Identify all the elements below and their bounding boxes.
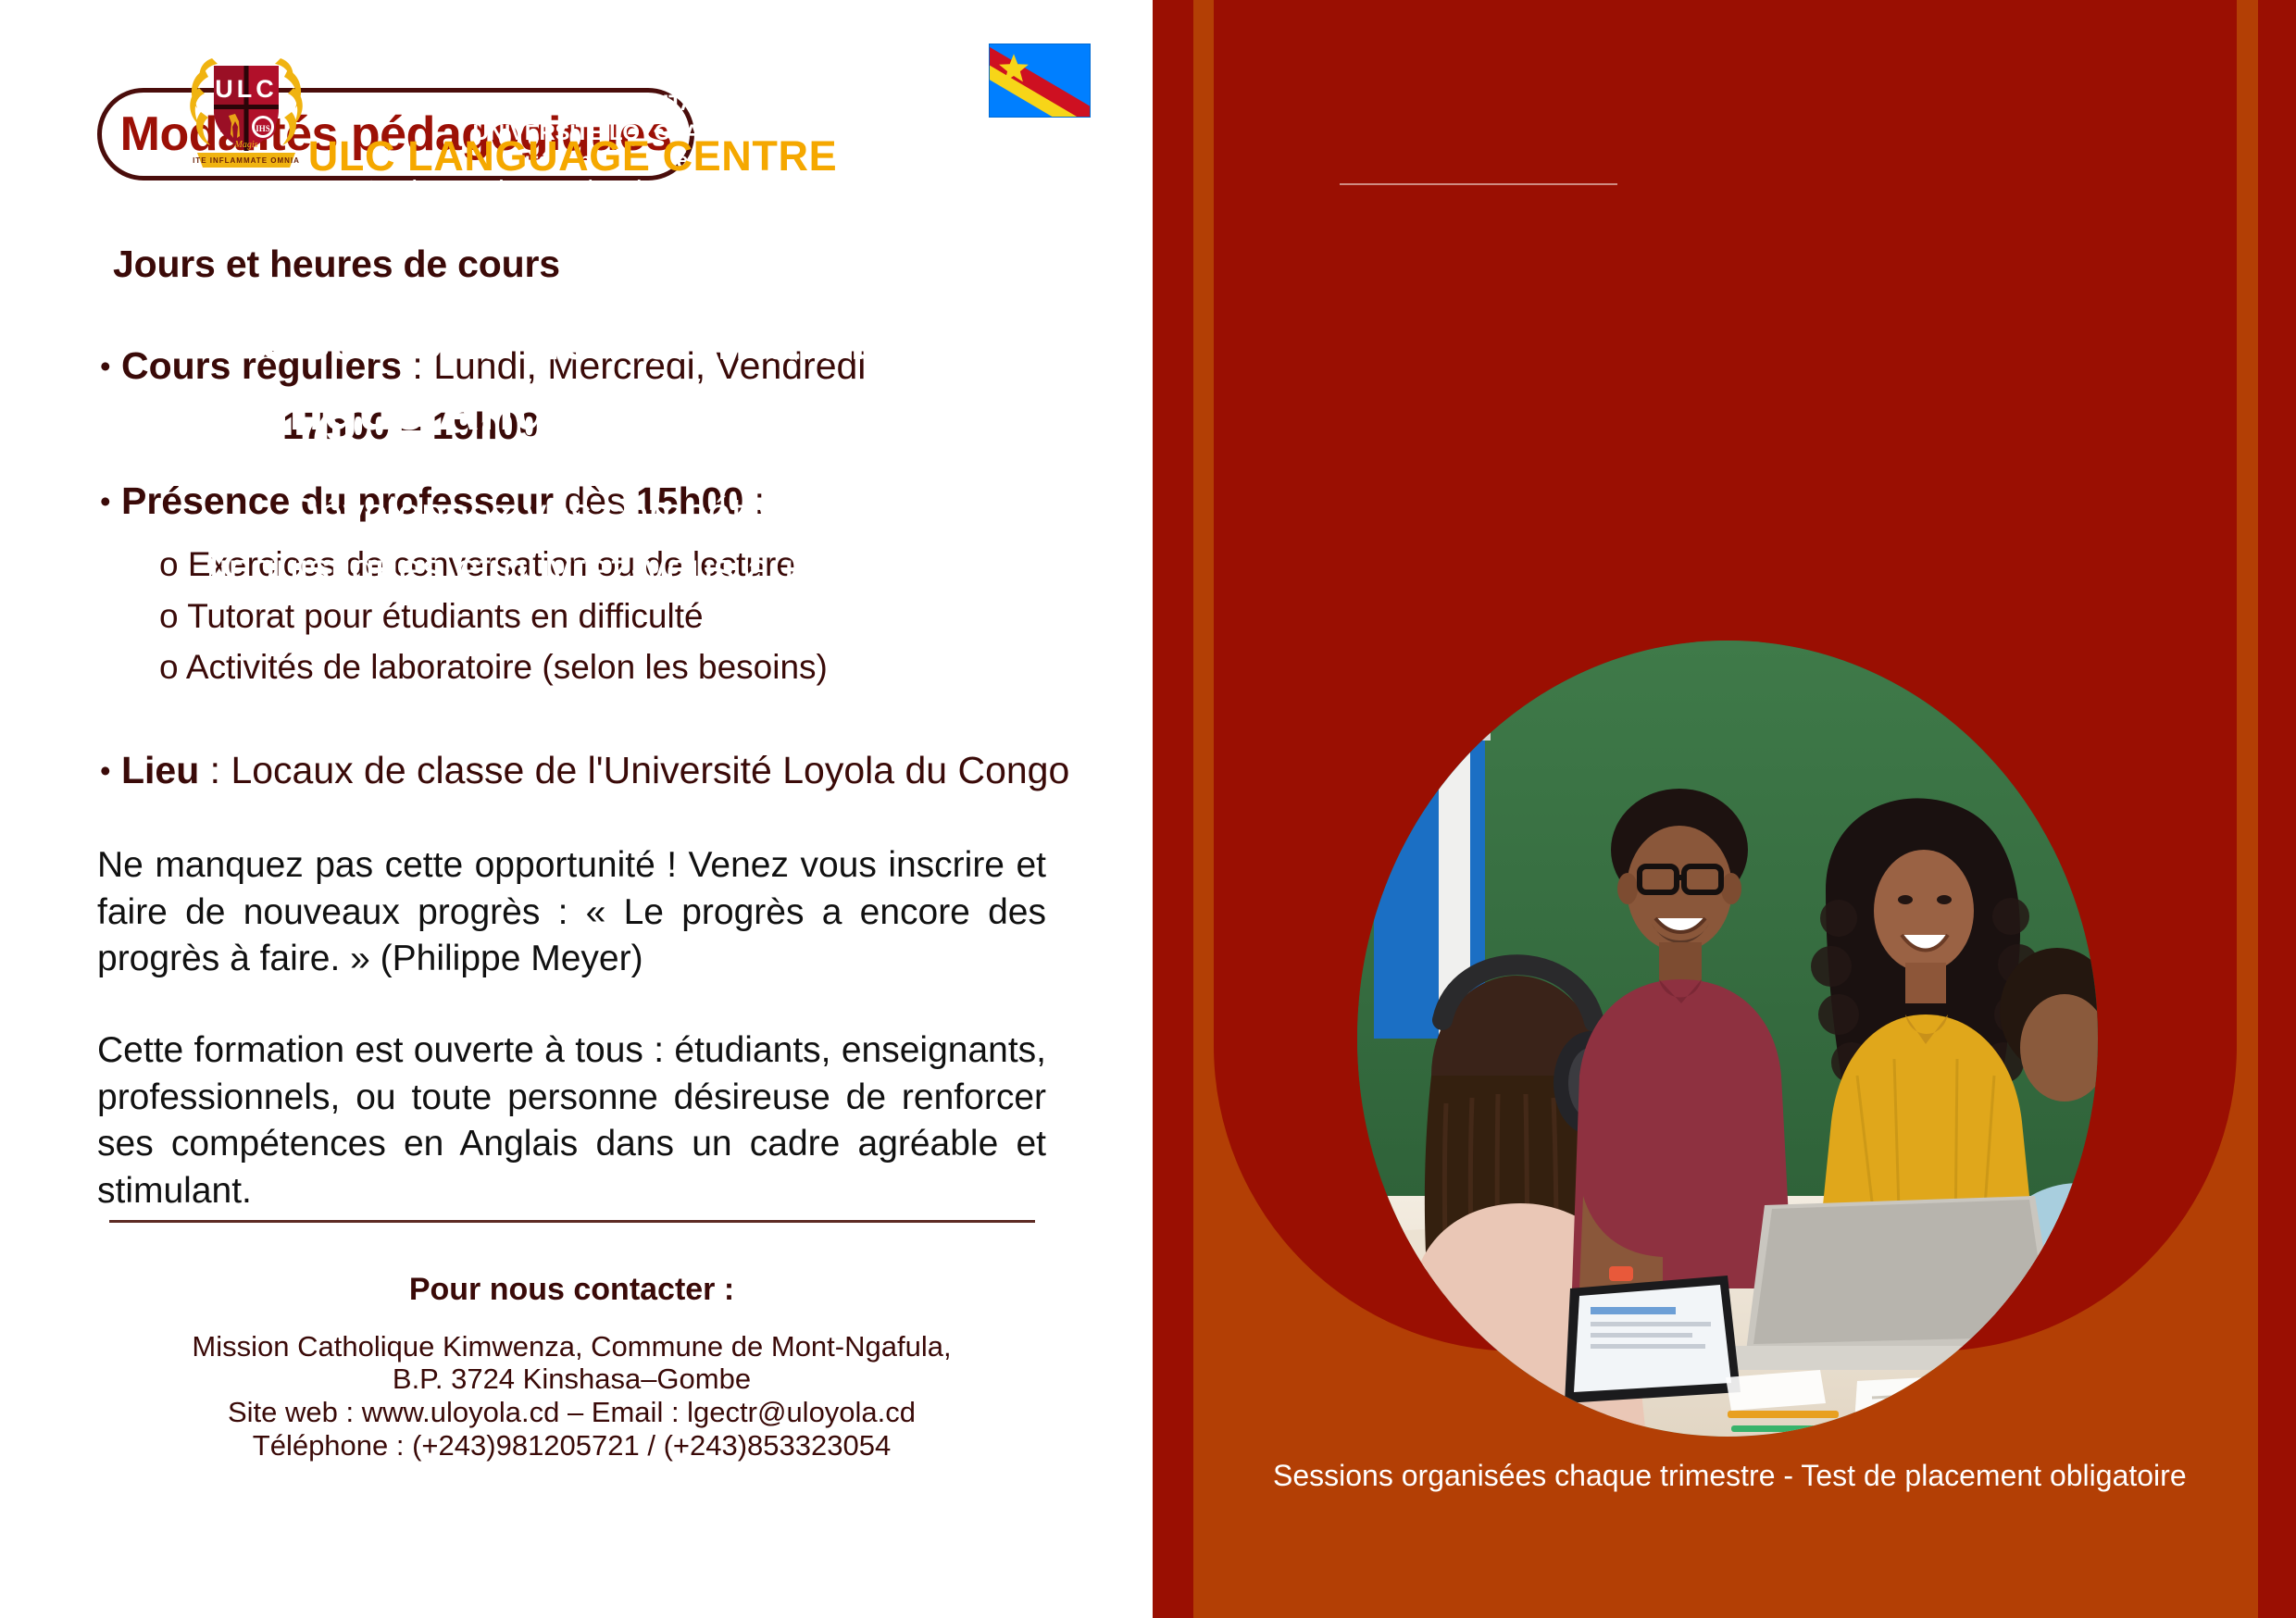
contact-phone[interactable]: Téléphone : (+243)981205721 / (+243)8533… <box>97 1429 1046 1462</box>
title-rule-divider <box>1340 183 1617 185</box>
tagline-line-1: Développez vos compétences <box>61 486 1084 541</box>
section-heading-schedule: Jours et heures de cours <box>113 243 560 286</box>
left-content-column: Modalités pédagogiques Jours et heures d… <box>0 0 1153 1618</box>
contact-web-email[interactable]: Site web : www.uloyola.cd – Email : lgec… <box>97 1396 1046 1429</box>
paragraph-formation-ouverte: Cette formation est ouverte à tous : étu… <box>97 1027 1046 1215</box>
ministry-line-1: REPUBLIQUE DÉMOCRATIQUE DU CONGO <box>320 31 978 60</box>
bullet-sep-2: : <box>199 749 231 791</box>
bullet-label-lieu: Lieu <box>121 749 199 791</box>
classroom-students-photo <box>1357 641 2098 1437</box>
contact-heading: Pour nous contacter : <box>97 1272 1046 1308</box>
main-headline-line-2: en Langue Anglaise 2025 – 2026 <box>61 376 1084 446</box>
paragraph-opportunite: Ne manquez pas cette opportunité ! Venez… <box>97 842 1046 983</box>
contact-address-line-1: Mission Catholique Kimwenza, Commune de … <box>97 1330 1046 1363</box>
tagline-block: Développez vos compétences linguistiques… <box>61 486 1084 597</box>
section-divider <box>109 1220 1035 1223</box>
main-headline: Sessions de Formation en Langue Anglaise… <box>61 305 1084 445</box>
flag-star-icon <box>997 52 1030 85</box>
left-edge-stripe <box>1153 0 1193 1618</box>
language-centre-title: ULC LANGUAGE CENTRE <box>61 132 1084 180</box>
poster-root: Modalités pédagogiques Jours et heures d… <box>0 0 2296 1618</box>
ministry-line-2: MINISTÈRE DE L'ENSEIGNEMENT SUPÉRIEUR ET… <box>320 60 978 118</box>
bullet-lieu: • Lieu : Locaux de classe de l'Universit… <box>100 749 1100 792</box>
sub-item-laboratoire: o Activités de laboratoire (selon les be… <box>159 648 828 687</box>
footer-note: Sessions organisées chaque trimestre - T… <box>1273 1459 2199 1493</box>
bullet-value-lieu: Locaux de classe de l'Université Loyola … <box>231 749 1069 791</box>
main-headline-line-1: Sessions de Formation <box>61 305 1084 376</box>
drc-flag-icon <box>989 44 1091 118</box>
right-edge-stripe <box>2258 0 2296 1618</box>
contact-address-line-2: B.P. 3724 Kinshasa–Gombe <box>97 1363 1046 1396</box>
sub-item-tutorat: o Tutorat pour étudiants en difficulté <box>159 597 704 636</box>
tagline-line-2: linguistiques et ouvrez-vous au monde <box>61 541 1084 597</box>
svg-text:ULC: ULC <box>215 75 278 103</box>
bullet-dot-icon: • <box>100 753 111 788</box>
